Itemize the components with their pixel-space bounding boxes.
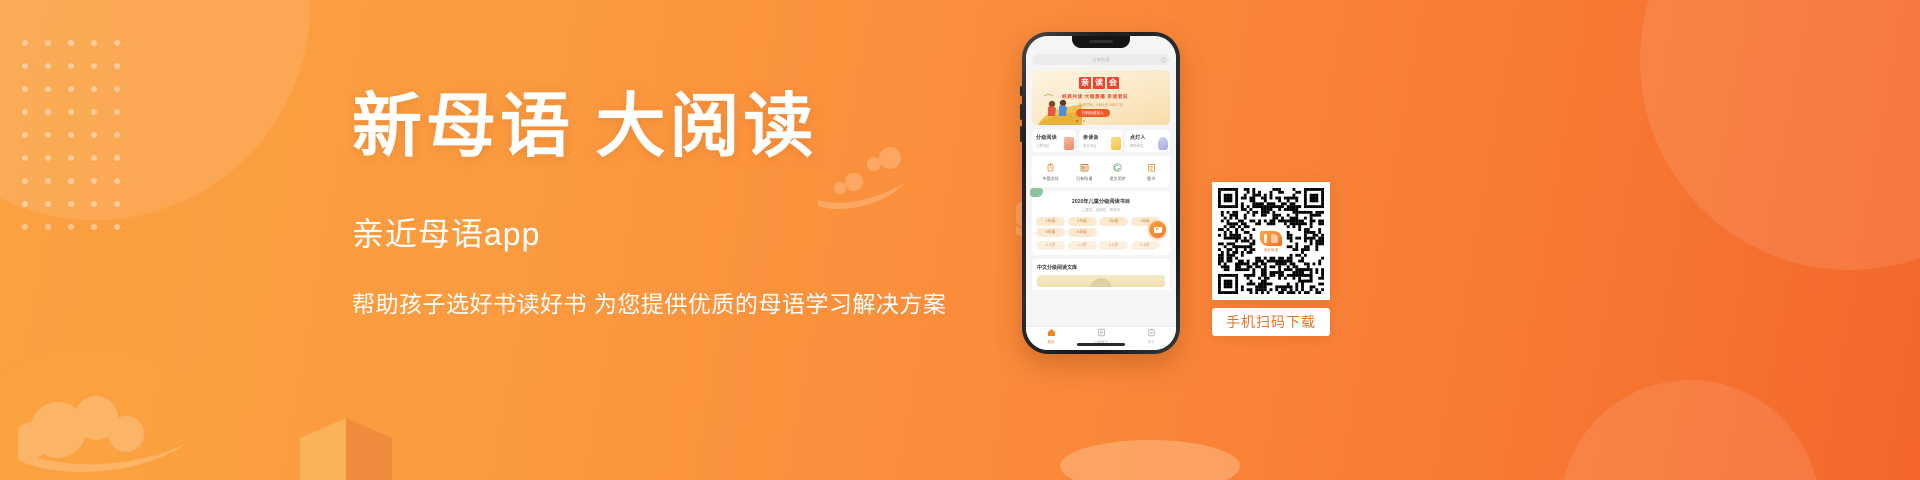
phone-screen: 日有所诵 亲 读 会 (1026, 36, 1176, 350)
decor-circle-right (1640, 0, 1920, 270)
hero-title: 亲 读 会 (1079, 77, 1119, 89)
people-graphic (1158, 137, 1168, 150)
phone-silent-switch[interactable] (1020, 86, 1022, 96)
play-icon (1154, 227, 1162, 233)
tab-label: 学习 (1126, 339, 1176, 344)
zone-card-teacher[interactable]: 点灯人 教师专区 (1126, 130, 1170, 152)
booklist-subtitle: 儿童性、经典性、教育性 (1036, 208, 1166, 213)
list-icon (1097, 328, 1106, 337)
age-chip[interactable]: 3-4岁 (1068, 241, 1097, 250)
page-title: 新母语 大阅读 (352, 92, 1012, 163)
decor-cube (300, 418, 392, 480)
ribbon-tag-icon (1030, 188, 1043, 197)
grade-chip[interactable]: 1年级 (1036, 217, 1065, 226)
hero-detail: 活动时间：9月6日-9月27日 (1078, 102, 1124, 107)
lantern-icon (1045, 162, 1056, 173)
library-illustration (1090, 278, 1112, 287)
tab-label: 首页 (1026, 339, 1076, 344)
app-name-subtitle: 亲近母语app (352, 209, 1012, 255)
carousel-dots[interactable] (1076, 120, 1085, 122)
phone-notch (1072, 36, 1130, 48)
logo-mark-icon (1260, 231, 1282, 246)
bookmark-graphic (1064, 137, 1074, 150)
library-banner (1037, 275, 1165, 287)
quick-link-label: 日有所诵 (1068, 176, 1102, 182)
app-tabbar: 首页 小组读书 (1026, 326, 1176, 350)
app-home-screen: 日有所诵 亲 读 会 (1026, 36, 1176, 350)
age-chip[interactable]: 4-5岁 (1099, 241, 1128, 250)
age-chip[interactable]: 0-3岁 (1036, 241, 1065, 250)
grade-chip[interactable]: 6年级 (1068, 228, 1097, 237)
zone-card-graded-reading[interactable]: 分级阅读 儿童专区 (1032, 130, 1076, 152)
quick-link-label: 图书 (1135, 176, 1169, 182)
grade-chip[interactable]: 3年级 (1099, 217, 1128, 226)
hero-cta-button[interactable]: 扫码免费加入 (1076, 109, 1110, 117)
microphone-icon[interactable] (1161, 57, 1166, 62)
grade-chip-group: 1年级2年级3年级4年级5年级6年级 (1036, 217, 1166, 238)
hero-title-char: 会 (1107, 77, 1119, 89)
grade-chip[interactable]: 2年级 (1068, 217, 1097, 226)
hero-title-char: 亲 (1079, 77, 1091, 89)
booklist-section: 2020年儿童分级阅读书目 儿童性、经典性、教育性 1年级2年级3年级4年级5年… (1032, 191, 1170, 255)
phone-volume-down-button[interactable] (1020, 126, 1022, 142)
tab-home[interactable]: 首页 (1026, 328, 1076, 344)
download-button[interactable]: 手机扫码下载 (1212, 308, 1330, 336)
clipboard-icon (1147, 328, 1156, 337)
quick-link-daily-recitation[interactable]: 日有所诵 (1068, 162, 1102, 182)
booklist-title: 2020年儿童分级阅读书目 (1036, 198, 1166, 205)
library-title: 中文分级阅读文库 (1037, 264, 1165, 271)
qr-code-card[interactable]: 亲近母语 (1212, 182, 1330, 300)
book-open-icon (1079, 162, 1090, 173)
quick-link-textbook-sync[interactable]: 语文同步 (1101, 162, 1135, 182)
search-placeholder: 日有所诵 (1092, 57, 1109, 63)
tab-study[interactable]: 学习 (1126, 328, 1176, 344)
banner-tagline: 帮助孩子选好书读好书 为您提供优质的母语学习解决方案 (352, 285, 1012, 319)
library-section[interactable]: 中文分级阅读文库 (1032, 259, 1170, 290)
grade-chip[interactable]: 5年级 (1036, 228, 1065, 237)
book-icon (1146, 162, 1157, 173)
quick-links-row: 中国文化 日有所诵 (1032, 156, 1170, 187)
quick-link-chinese-culture[interactable]: 中国文化 (1034, 162, 1068, 182)
age-chip[interactable]: 5-6岁 (1131, 241, 1160, 250)
search-input[interactable]: 日有所诵 (1032, 54, 1170, 65)
quick-link-label: 中国文化 (1034, 176, 1068, 182)
zone-cards-row: 分级阅读 儿童专区 亲读会 家长专区 点灯人 教师专区 (1032, 130, 1170, 152)
hero-title-char: 读 (1093, 77, 1105, 89)
logo-name: 亲近母语 (1264, 247, 1278, 252)
quick-link-books[interactable]: 图书 (1135, 162, 1169, 182)
decor-dot-grid (22, 40, 126, 236)
phone-volume-up-button[interactable] (1020, 104, 1022, 120)
home-icon (1047, 328, 1056, 337)
circle-g-icon (1112, 162, 1123, 173)
video-play-button[interactable] (1149, 221, 1166, 238)
promo-banner: 新母语 大阅读 亲近母语app 帮助孩子选好书读好书 为您提供优质的母语学习解决… (0, 0, 1920, 480)
note-graphic (1111, 137, 1121, 150)
decor-circle-bottom-right (1560, 380, 1820, 480)
zone-card-parent-club[interactable]: 亲读会 家长专区 (1079, 130, 1123, 152)
phone-home-indicator (1077, 343, 1125, 346)
hero-subtitle: 经典共读 大咖直播 亲读者说 (1062, 94, 1128, 100)
banner-text-block: 新母语 大阅读 亲近母语app 帮助孩子选好书读好书 为您提供优质的母语学习解决… (352, 92, 1012, 319)
phone-mockup: 日有所诵 亲 读 会 (1022, 32, 1180, 354)
tab-group-reading[interactable]: 小组读书 (1076, 328, 1126, 344)
decor-cloud-bottom-mid (1060, 404, 1240, 480)
decor-cloud-left (18, 378, 208, 474)
hero-banner[interactable]: 亲 读 会 经典共读 大咖直播 亲读者说 活动时间：9月6日-9月27日 扫码免… (1032, 70, 1170, 125)
age-chip-group: 0-3岁3-4岁4-5岁5-6岁 (1036, 241, 1166, 250)
quick-link-label: 语文同步 (1101, 176, 1135, 182)
decor-circle-bottom-left (0, 345, 240, 480)
brand-logo: 亲近母语 (1256, 226, 1286, 256)
